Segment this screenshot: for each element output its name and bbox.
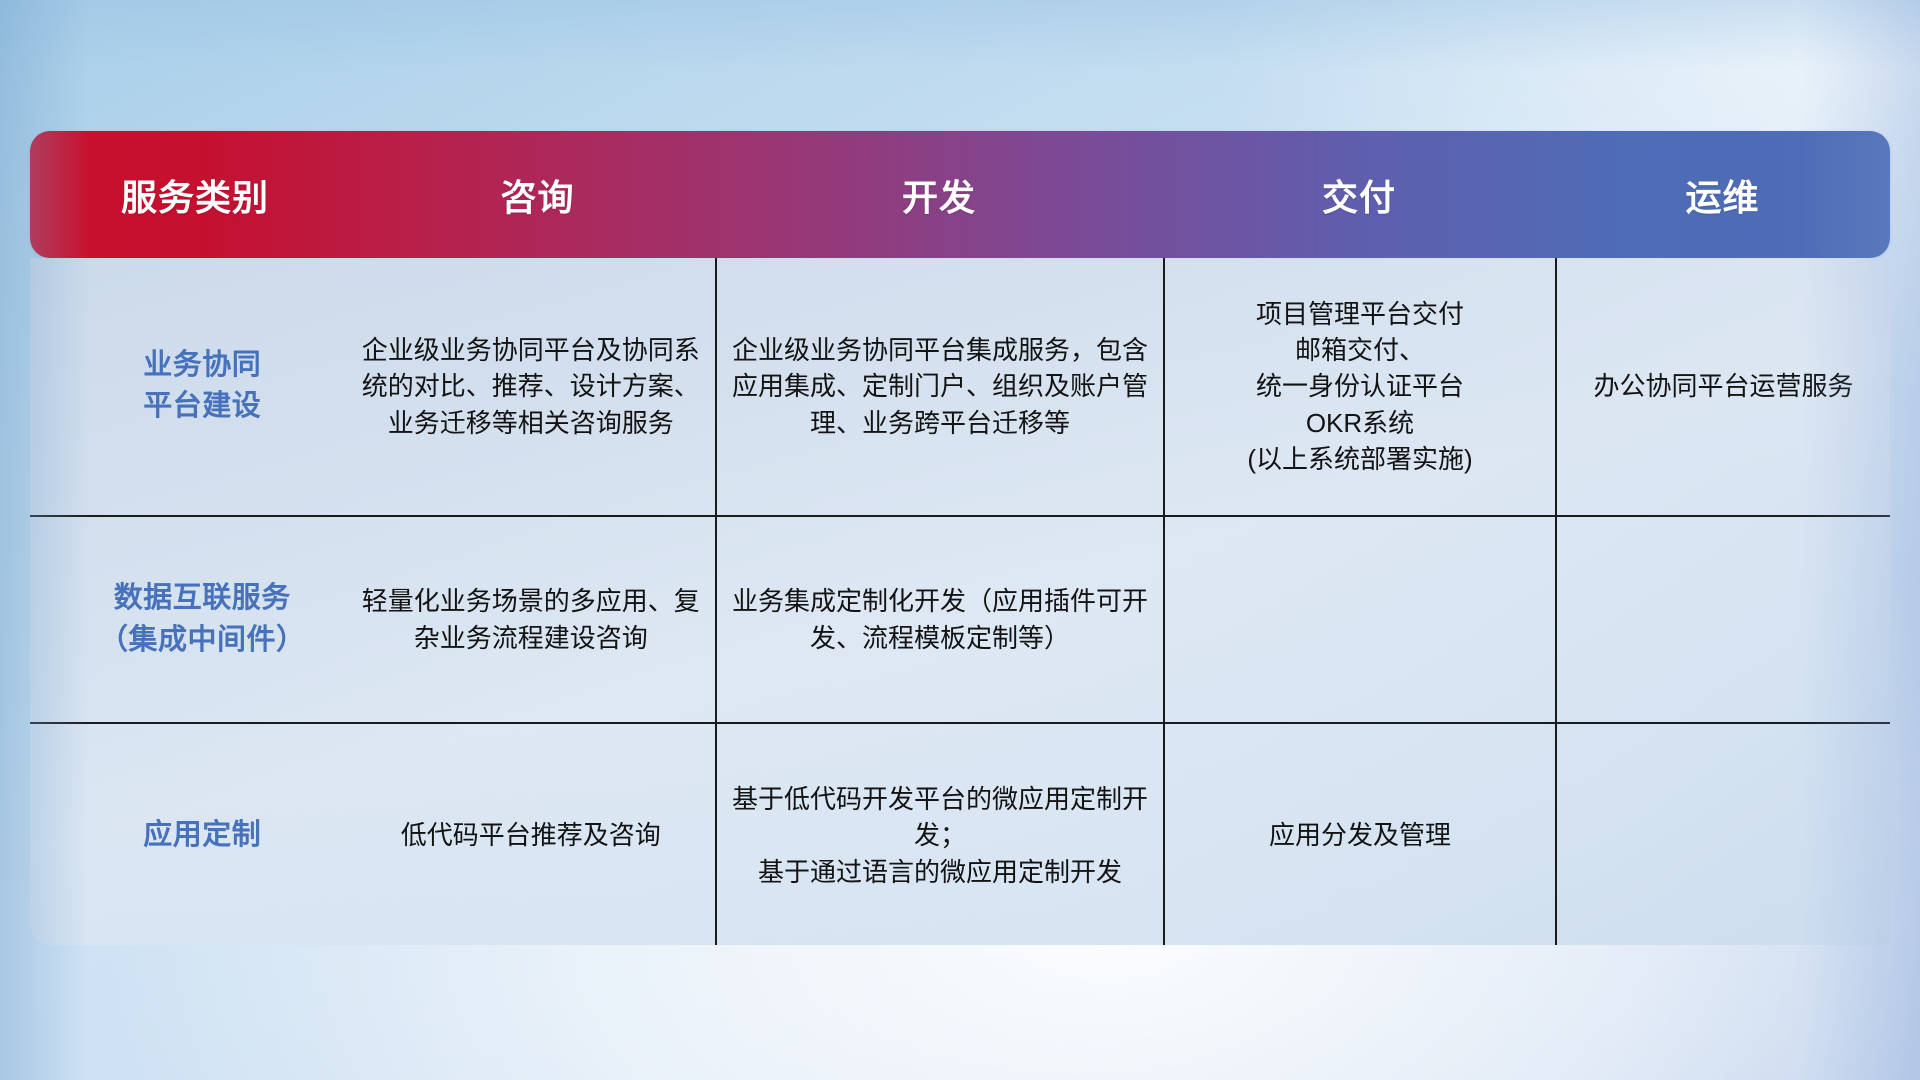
table-header-row: 服务类别 咨询 开发 交付 运维 [30, 131, 1890, 258]
cell-development: 基于低代码开发平台的微应用定制开发； 基于通过语言的微应用定制开发 [715, 724, 1163, 945]
table-row: 应用定制 低代码平台推荐及咨询 基于低代码开发平台的微应用定制开发； 基于通过语… [30, 722, 1890, 945]
table-row: 数据互联服务 （集成中间件） 轻量化业务场景的多应用、复杂业务流程建设咨询 业务… [30, 515, 1890, 722]
cell-operations [1555, 724, 1890, 945]
category-line-2: 平台建设 [44, 386, 361, 427]
category-line-1: 数据互联服务 [44, 578, 361, 619]
category-line-1: 业务协同 [44, 345, 361, 386]
cell-development: 业务集成定制化开发（应用插件可开发、流程模板定制等） [715, 517, 1163, 722]
cell-consulting: 企业级业务协同平台及协同系统的对比、推荐、设计方案、业务迁移等相关咨询服务 [361, 332, 701, 441]
cell-consulting: 轻量化业务场景的多应用、复杂业务流程建设咨询 [361, 583, 701, 656]
table-row: 业务协同 平台建设 企业级业务协同平台及协同系统的对比、推荐、设计方案、业务迁移… [30, 258, 1890, 515]
table-body: 业务协同 平台建设 企业级业务协同平台及协同系统的对比、推荐、设计方案、业务迁移… [30, 258, 1890, 945]
service-matrix-table: 服务类别 咨询 开发 交付 运维 业务协同 平台建设 企业级业务协同平台及协同系… [30, 131, 1890, 945]
slide-canvas: 服务类别 咨询 开发 交付 运维 业务协同 平台建设 企业级业务协同平台及协同系… [0, 0, 1920, 1080]
cell-delivery: 应用分发及管理 [1163, 724, 1555, 945]
cell-category-and-consulting: 业务协同 平台建设 企业级业务协同平台及协同系统的对比、推荐、设计方案、业务迁移… [30, 258, 715, 515]
category-line-1: 应用定制 [44, 815, 361, 856]
header-cell-development: 开发 [715, 169, 1163, 221]
cell-category-and-consulting: 数据互联服务 （集成中间件） 轻量化业务场景的多应用、复杂业务流程建设咨询 [30, 517, 715, 722]
row-category-label: 业务协同 平台建设 [44, 345, 361, 427]
row-category-label: 数据互联服务 （集成中间件） [44, 578, 361, 660]
category-line-2: （集成中间件） [44, 620, 361, 661]
header-cell-delivery: 交付 [1163, 169, 1555, 221]
cell-delivery: 项目管理平台交付 邮箱交付、 统一身份认证平台 OKR系统 (以上系统部署实施) [1163, 258, 1555, 515]
cell-operations: 办公协同平台运营服务 [1555, 258, 1890, 515]
header-cell-consulting: 咨询 [360, 169, 715, 221]
header-cell-operations: 运维 [1555, 169, 1890, 221]
cell-delivery [1163, 517, 1555, 722]
row-category-label: 应用定制 [44, 815, 361, 856]
cell-development: 企业级业务协同平台集成服务，包含应用集成、定制门户、组织及账户管理、业务跨平台迁… [715, 258, 1163, 515]
cell-category-and-consulting: 应用定制 低代码平台推荐及咨询 [30, 724, 715, 945]
header-cell-service-category: 服务类别 [30, 169, 360, 221]
cell-operations [1555, 517, 1890, 722]
cell-consulting: 低代码平台推荐及咨询 [361, 817, 701, 853]
